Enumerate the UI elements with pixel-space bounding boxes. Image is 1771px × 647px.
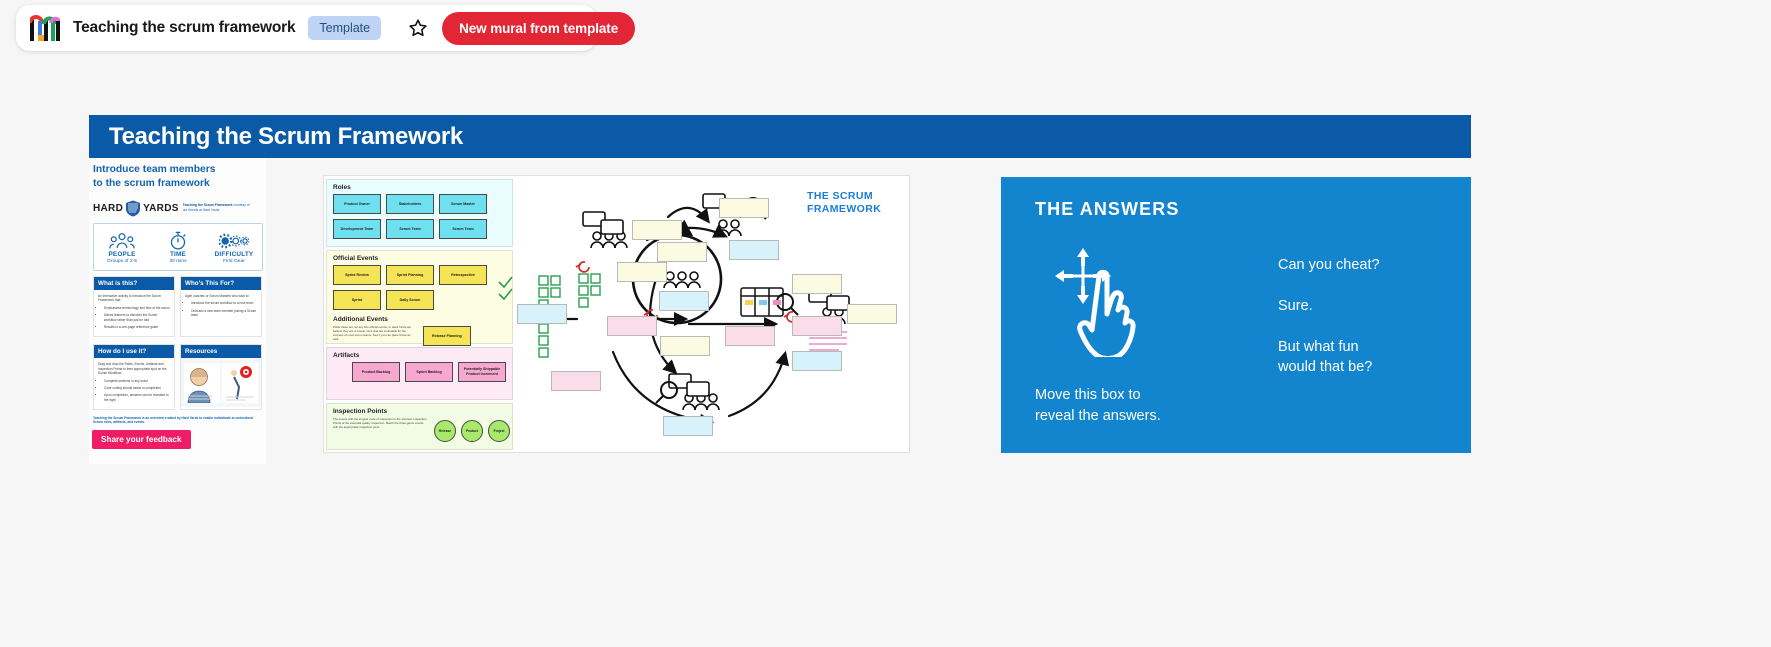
info-card-intro: Drag and drop the Roles, Events, Artifac… bbox=[98, 362, 170, 375]
answers-answer-1: Sure. bbox=[1278, 296, 1313, 316]
info-card-title: Resources bbox=[181, 345, 261, 358]
info-card-body: An interactive activity to introduce the… bbox=[94, 290, 174, 336]
stat-people: PEOPLE Groups of 2-5 bbox=[94, 224, 150, 270]
hard-yards-shield-icon bbox=[125, 200, 141, 217]
stat-time-value: 30 mins bbox=[169, 259, 186, 264]
stat-difficulty-label: DIFFICULTY bbox=[215, 251, 254, 258]
diagram-note[interactable] bbox=[607, 316, 657, 336]
hard-yards-logo: HARD YARDS bbox=[93, 200, 179, 217]
info-card-intro: An interactive activity to introduce the… bbox=[98, 294, 170, 303]
list-item: Color coding should assist in completion bbox=[104, 386, 170, 390]
list-item: Introduce the scrum workflow to a new te… bbox=[191, 301, 257, 305]
list-item: Emphasizes terminology and flow of the s… bbox=[104, 306, 170, 310]
diagram-note[interactable] bbox=[517, 304, 567, 324]
sticky-note[interactable]: Sprint Planning bbox=[386, 265, 434, 285]
diagram-note[interactable] bbox=[659, 291, 709, 311]
move-hand-cursor-icon bbox=[1043, 242, 1153, 357]
mural-canvas[interactable]: Teaching the Scrum Framework Introduce t… bbox=[0, 60, 1771, 647]
mural-logo-icon[interactable] bbox=[30, 15, 60, 41]
instructions-heading-line1: Introduce team members bbox=[93, 163, 263, 177]
instructions-footnote: Teaching the Scrum Framework is an overv… bbox=[93, 416, 263, 425]
answers-answer-2: But what fun would that be? bbox=[1278, 337, 1372, 377]
list-item: Results in a one-page reference guide bbox=[104, 325, 170, 329]
sticky-note[interactable]: Scrum Team bbox=[386, 219, 434, 239]
brand-word-right: YARDS bbox=[143, 203, 179, 214]
diagram-note[interactable] bbox=[617, 262, 667, 282]
diagram-note[interactable] bbox=[725, 326, 775, 346]
section-subtitle: While these are not any two official eve… bbox=[327, 326, 423, 342]
info-card-body: Drag and drop the Roles, Events, Artifac… bbox=[94, 358, 174, 409]
info-card-bullets: Emphasizes terminology and flow of the s… bbox=[98, 306, 170, 330]
diagram-note[interactable] bbox=[657, 242, 707, 262]
diagram-note[interactable] bbox=[660, 336, 710, 356]
people-group-icon bbox=[109, 231, 135, 250]
info-cards-row-1: What is this? An interactive activity to… bbox=[93, 276, 262, 337]
page-title: Teaching the scrum framework bbox=[73, 19, 295, 37]
stat-time-label: TIME bbox=[170, 251, 186, 258]
sticky-note[interactable]: Product Owner bbox=[333, 194, 381, 214]
info-card-bullets: Complete sections in any order Color cod… bbox=[98, 379, 170, 403]
list-item: Onboard a new team member joining a Scru… bbox=[191, 309, 257, 318]
answers-answer-2-line1: But what fun bbox=[1278, 337, 1372, 357]
stat-people-value: Groups of 2-5 bbox=[107, 259, 137, 264]
info-card-title: What is this? bbox=[94, 277, 174, 290]
info-card-whos-this-for: Who's This For? Agile coaches or Scrum M… bbox=[180, 276, 262, 337]
sticky-note[interactable]: Development Team bbox=[333, 219, 381, 239]
answers-question-1: Can you cheat? bbox=[1278, 255, 1380, 275]
info-card-body: Agile coaches or Scrum Masters who wish … bbox=[181, 290, 261, 325]
diagram-note[interactable] bbox=[847, 304, 897, 324]
person-portrait-illustration bbox=[184, 363, 220, 403]
stat-people-label: PEOPLE bbox=[108, 251, 135, 258]
info-card-bullets: Introduce the scrum workflow to a new te… bbox=[185, 301, 257, 317]
diagram-note[interactable] bbox=[792, 316, 842, 336]
info-card-title: How do I use it? bbox=[94, 345, 174, 358]
star-outline-icon[interactable] bbox=[407, 15, 429, 41]
info-card-what-is-this: What is this? An interactive activity to… bbox=[93, 276, 175, 337]
diagram-note[interactable] bbox=[792, 351, 842, 371]
sticky-note[interactable]: Daily Scrum bbox=[386, 290, 434, 310]
instructions-heading-line2: to the scrum framework bbox=[93, 177, 263, 191]
scrum-board[interactable]: Roles Product Owner Stakeholders Scrum M… bbox=[323, 175, 910, 453]
list-item: Allows learners to discover the Scrum wo… bbox=[104, 313, 170, 322]
board-title: Teaching the Scrum Framework bbox=[89, 123, 463, 151]
sticky-note[interactable]: Product Backlog bbox=[352, 362, 400, 382]
info-card-how-do-i-use-it: How do I use it? Drag and drop the Roles… bbox=[93, 344, 175, 410]
diagram-note[interactable] bbox=[719, 198, 769, 218]
diagram-note[interactable] bbox=[729, 240, 779, 260]
diagram-note[interactable] bbox=[792, 274, 842, 294]
stat-difficulty-value: First Gear bbox=[223, 259, 245, 264]
sticky-note[interactable]: Sprint Backlog bbox=[405, 362, 453, 382]
new-mural-from-template-button[interactable]: New mural from template bbox=[442, 12, 635, 45]
info-cards-row-2: How do I use it? Drag and drop the Roles… bbox=[93, 344, 262, 410]
section-subtitle: The events with the longest cycle of ins… bbox=[327, 418, 434, 430]
diagram-note[interactable] bbox=[632, 220, 682, 240]
stopwatch-icon bbox=[168, 231, 188, 250]
info-card-resources: Resources bbox=[180, 344, 262, 410]
list-item: Complete sections in any order bbox=[104, 379, 170, 383]
instructions-panel[interactable]: Introduce team members to the scrum fram… bbox=[89, 158, 266, 464]
scrum-framework-diagram[interactable]: THE SCRUM FRAMEWORK bbox=[457, 176, 909, 452]
answers-move-line1: Move this box to bbox=[1035, 385, 1161, 406]
info-card-title: Who's This For? bbox=[181, 277, 261, 290]
board-title-banner: Teaching the Scrum Framework bbox=[89, 115, 1471, 158]
list-item: Upon completion, answers can be revealed… bbox=[104, 393, 170, 402]
diagram-note[interactable] bbox=[551, 371, 601, 391]
brand-note-line1: Teaching the Scrum Framework bbox=[183, 203, 233, 207]
gears-icon bbox=[219, 231, 249, 250]
stat-difficulty: DIFFICULTY First Gear bbox=[206, 224, 262, 270]
answers-answer-2-line2: would that be? bbox=[1278, 357, 1372, 377]
brand-word-left: HARD bbox=[93, 203, 123, 214]
answers-move-instruction: Move this box to reveal the answers. bbox=[1035, 385, 1161, 427]
diagram-note[interactable] bbox=[663, 416, 713, 436]
info-card-intro: Agile coaches or Scrum Masters who wish … bbox=[185, 294, 257, 298]
sticky-note[interactable]: Sprint Review bbox=[333, 265, 381, 285]
info-cards: What is this? An interactive activity to… bbox=[93, 276, 262, 417]
app-toolbar: Teaching the scrum framework Template Ne… bbox=[16, 5, 596, 51]
answers-title: THE ANSWERS bbox=[1035, 199, 1179, 220]
share-your-feedback-button[interactable]: Share your feedback bbox=[92, 430, 191, 449]
activity-stats-card: PEOPLE Groups of 2-5 TIME 30 mins bbox=[93, 223, 263, 271]
target-illustration bbox=[222, 363, 258, 403]
brand-note: Teaching the Scrum Framework courtesy of… bbox=[183, 203, 251, 212]
instructions-heading: Introduce team members to the scrum fram… bbox=[93, 163, 263, 191]
hard-yards-branding: HARD YARDS Teaching the Scrum Framework … bbox=[93, 198, 265, 218]
sticky-note[interactable]: Stakeholders bbox=[386, 194, 434, 214]
resources-illustration bbox=[181, 358, 261, 407]
answers-panel[interactable]: THE ANSWERS Move this box to reveal the … bbox=[1001, 177, 1471, 453]
sticky-note[interactable]: Release bbox=[434, 420, 456, 442]
stat-time: TIME 30 mins bbox=[150, 224, 206, 270]
sticky-note[interactable]: Sprint bbox=[333, 290, 381, 310]
answers-move-line2: reveal the answers. bbox=[1035, 406, 1161, 427]
template-badge: Template bbox=[308, 16, 381, 40]
